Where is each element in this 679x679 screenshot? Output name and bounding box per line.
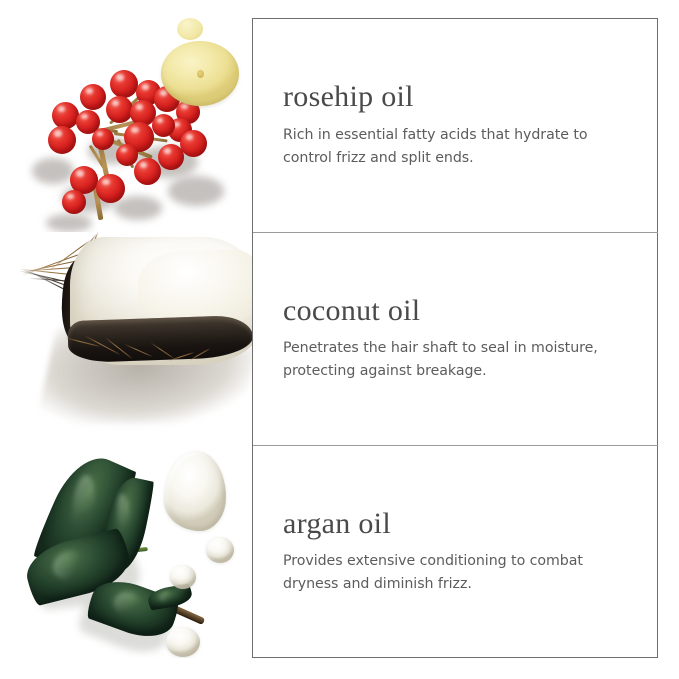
berry (62, 190, 86, 214)
argan-heading: argan oil (283, 507, 642, 542)
berry-shadow (32, 158, 74, 184)
coconut-body: Penetrates the hair shaft to seal in moi… (283, 337, 638, 383)
ingredient-row-coconut: coconut oil Penetrates the hair shaft to… (18, 232, 658, 445)
coconut-text-block: coconut oil Penetrates the hair shaft to… (253, 232, 658, 445)
berry (92, 128, 114, 150)
oil-droplet-large (164, 451, 226, 531)
coconut-flesh-upper (138, 250, 252, 324)
ingredient-row-rosehip: rosehip oil Rich in essential fatty acid… (18, 18, 658, 232)
ingredient-row-argan: argan oil Provides extensive conditionin… (18, 445, 658, 658)
coconut-scene (18, 232, 252, 445)
argan-text-block: argan oil Provides extensive conditionin… (253, 445, 658, 658)
rosehip-text-block: rosehip oil Rich in essential fatty acid… (253, 18, 658, 232)
berry (116, 144, 138, 166)
berry (134, 158, 161, 185)
berry-shadow (114, 196, 162, 220)
berry-shadow (168, 176, 224, 206)
berry (96, 174, 125, 203)
rosehip-scene (18, 18, 252, 232)
oil-droplet-small (206, 537, 234, 563)
berry (48, 126, 76, 154)
berry-shadow (46, 214, 92, 232)
argan-scene (18, 445, 252, 658)
berry (180, 130, 207, 157)
berry (52, 102, 79, 129)
rosehip-heading: rosehip oil (283, 80, 642, 115)
ingredient-infographic: rosehip oil Rich in essential fatty acid… (0, 0, 679, 679)
berry (152, 114, 175, 137)
oil-droplet-small (170, 565, 196, 589)
coconut-heading: coconut oil (283, 294, 642, 329)
coconut-image (18, 232, 252, 445)
rosehip-body: Rich in essential fatty acids that hydra… (283, 124, 638, 170)
berry (158, 144, 184, 170)
berry (106, 96, 133, 123)
argan-body: Provides extensive conditioning to comba… (283, 550, 638, 596)
rosehip-image (18, 18, 252, 232)
berry (110, 70, 138, 98)
oil-droplet-small (166, 627, 200, 657)
oil-droplet-large (161, 41, 239, 106)
oil-droplet-small (177, 18, 203, 40)
berry (80, 84, 106, 110)
argan-image (18, 445, 252, 658)
